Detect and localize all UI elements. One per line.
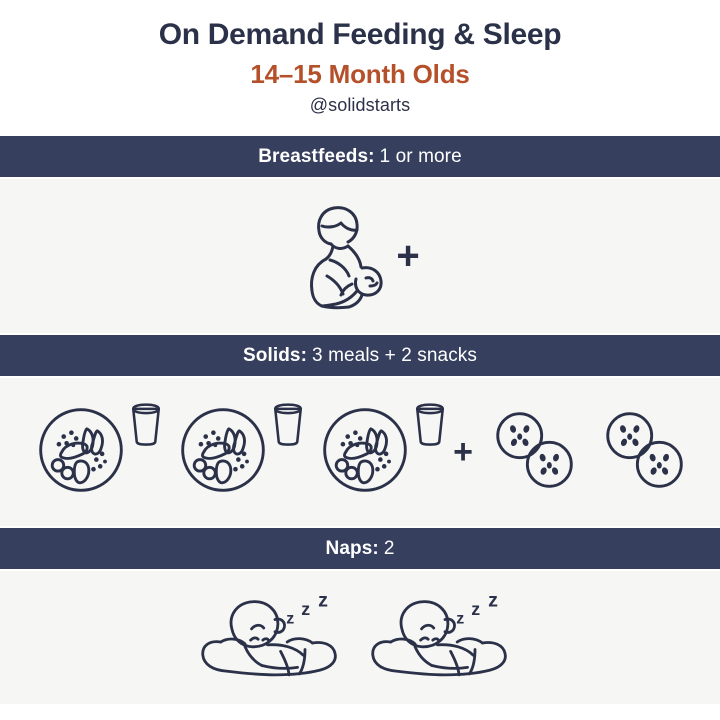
cup-icon [413, 402, 447, 453]
cup-icon [129, 402, 163, 453]
page-subtitle: 14–15 Month Olds [250, 59, 469, 90]
cracker-snack-icon [608, 413, 652, 457]
svg-text:z: z [488, 589, 498, 611]
banner-breastfeeds: Breastfeeds: 1 or more [0, 136, 720, 177]
cup-icon [271, 402, 305, 453]
snack-group [597, 407, 693, 498]
banner-label-breastfeeds: Breastfeeds: [258, 146, 374, 168]
nursing-mother-icon [300, 198, 396, 315]
banner-label-solids: Solids: [243, 345, 307, 367]
plate-with-food-icon [33, 402, 129, 503]
banner-solids: Solids: 3 meals + 2 snacks [0, 335, 720, 376]
svg-text:z: z [286, 610, 294, 627]
zzz-glyphs: z z z [286, 589, 328, 627]
plate-with-food-icon [317, 402, 413, 503]
svg-text:z: z [301, 599, 310, 619]
cracker-snack-icon [498, 413, 542, 457]
zzz-glyphs: z z z [456, 589, 498, 627]
infographic-root: On Demand Feeding & Sleep 14–15 Month Ol… [0, 0, 720, 720]
plate-with-food-icon [175, 402, 271, 503]
banner-value-naps: 2 [384, 538, 395, 560]
svg-text:z: z [456, 610, 464, 627]
cracker-snack-icon [637, 442, 681, 486]
snack-group [487, 407, 583, 498]
solids-icon-row: + [27, 402, 693, 503]
banner-value-breastfeeds: 1 or more [380, 146, 462, 168]
plus-sign-breastfeeds: + [396, 236, 419, 276]
breastfeed-icon-row: + [300, 198, 419, 315]
svg-text:z: z [318, 589, 328, 611]
sleeping-baby-icon: z z z [370, 585, 520, 690]
meal-unit [33, 402, 163, 503]
content-band-breastfeeds: + [0, 179, 720, 333]
banner-label-naps: Naps: [326, 538, 379, 560]
svg-text:z: z [471, 599, 480, 619]
header: On Demand Feeding & Sleep 14–15 Month Ol… [0, 0, 720, 136]
content-band-solids: + [0, 378, 720, 526]
banner-value-solids: 3 meals + 2 snacks [312, 345, 477, 367]
brand-handle: @solidstarts [310, 95, 411, 116]
meal-unit [317, 402, 447, 503]
naps-icon-row: z z z [190, 585, 530, 690]
plus-sign-solids: + [453, 435, 473, 469]
sleeping-baby-icon: z z z [200, 585, 350, 690]
cracker-snack-icon [527, 442, 571, 486]
meal-unit [175, 402, 305, 503]
content-band-naps: z z z [0, 571, 720, 704]
banner-naps: Naps: 2 [0, 528, 720, 569]
page-title: On Demand Feeding & Sleep [159, 18, 562, 53]
